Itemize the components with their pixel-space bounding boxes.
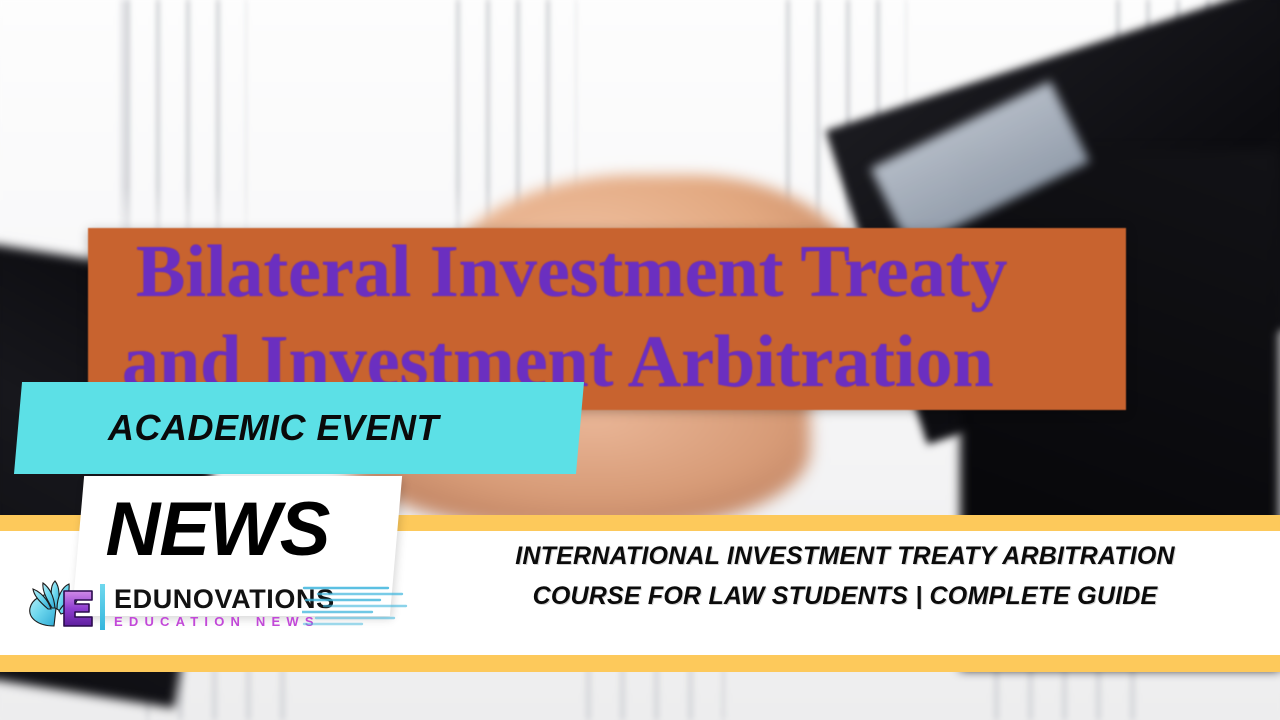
category-badge[interactable]: ACADEMIC EVENT (14, 382, 584, 474)
brand-text: EDUNOVATIONS EDUCATION NEWS (114, 585, 335, 630)
feather-e-icon (24, 578, 98, 636)
brand-logo[interactable]: EDUNOVATIONS EDUCATION NEWS (24, 578, 335, 636)
headline-line-1: INTERNATIONAL INVESTMENT TREATY ARBITRAT… (430, 536, 1260, 576)
brand-divider (100, 584, 105, 630)
book-title-line-1: Bilateral Investment Treaty (136, 228, 1126, 322)
brand-tagline: EDUCATION NEWS (114, 614, 335, 630)
gold-bar-bottom (0, 655, 1280, 672)
news-thumbnail-card: Bilateral Investment Treaty and Investme… (0, 0, 1280, 720)
news-label-text: NEWS (105, 482, 329, 577)
brand-name: EDUNOVATIONS (114, 585, 335, 614)
category-badge-label: ACADEMIC EVENT (108, 407, 439, 449)
headline: INTERNATIONAL INVESTMENT TREATY ARBITRAT… (430, 536, 1260, 616)
headline-line-2: COURSE FOR LAW STUDENTS | COMPLETE GUIDE (430, 576, 1260, 616)
